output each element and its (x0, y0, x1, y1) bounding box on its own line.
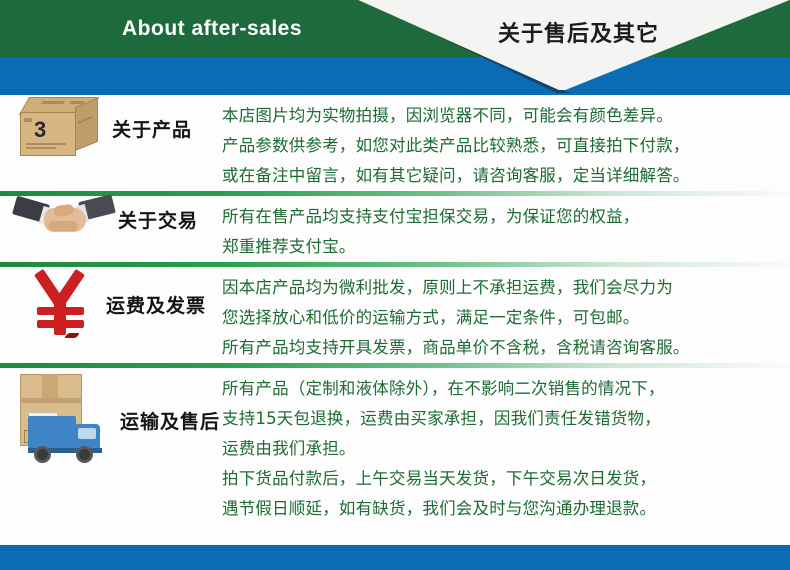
box-icon-number: 3 (34, 117, 46, 143)
delivery-truck-icon (12, 368, 116, 472)
section-4-title: 运输及售后 (120, 407, 220, 434)
section-3-text: 因本店产品均为微利批发，原则上不承担运费，我们会尽力为 您选择放心和低价的运输方… (222, 267, 790, 363)
banner-blue-band (0, 57, 790, 95)
section-2-line-1: 所有在售产品均支持支付宝担保交易，为保证您的权益， (222, 202, 784, 232)
section-4-left: 运输及售后 (0, 368, 222, 472)
page-banner: About after-sales 关于售后及其它 (0, 0, 790, 95)
section-shipping-invoice: 运费及发票 因本店产品均为微利批发，原则上不承担运费，我们会尽力为 您选择放心和… (0, 267, 790, 363)
section-3-left: 运费及发票 (0, 267, 222, 341)
section-1-line-3: 或在备注中留言，如有其它疑问，请咨询客服，定当详细解答。 (222, 161, 784, 191)
section-4-line-2: 支持15天包退换，运费由买家承担，因我们责任发错货物， (222, 404, 784, 434)
section-2-text: 所有在售产品均支持支付宝担保交易，为保证您的权益， 郑重推荐支付宝。 (222, 196, 790, 262)
section-3-line-1: 因本店产品均为微利批发，原则上不承担运费，我们会尽力为 (222, 273, 784, 303)
section-4-line-1: 所有产品（定制和液体除外），在不影响二次销售的情况下， (222, 374, 784, 404)
cardboard-box-icon: 3 (18, 95, 106, 161)
content-area: 3 关于产品 本店图片均为实物拍摄，因浏览器不同，可能会有颜色差异。 产品参数供… (0, 95, 790, 524)
section-1-title: 关于产品 (112, 115, 192, 142)
footer-blue-bar (0, 545, 790, 570)
section-about-transaction: 关于交易 所有在售产品均支持支付宝担保交易，为保证您的权益， 郑重推荐支付宝。 (0, 196, 790, 262)
yuan-currency-icon (20, 267, 102, 341)
section-3-title: 运费及发票 (106, 291, 206, 318)
section-4-line-4: 拍下货品付款后，上午交易当天发货，下午交易次日发货， (222, 464, 784, 494)
section-3-line-2: 您选择放心和低价的运输方式，满足一定条件，可包邮。 (222, 303, 784, 333)
banner-chinese-title: 关于售后及其它 (498, 16, 659, 48)
section-2-left: 关于交易 (0, 196, 222, 242)
section-delivery-aftersales: 运输及售后 所有产品（定制和液体除外），在不影响二次销售的情况下， 支持15天包… (0, 368, 790, 524)
after-sales-page: About after-sales 关于售后及其它 3 关于产品 (0, 0, 790, 570)
section-3-line-3: 所有产品均支持开具发票，商品单价不含税，含税请咨询客服。 (222, 333, 784, 363)
section-1-line-1: 本店图片均为实物拍摄，因浏览器不同，可能会有颜色差异。 (222, 101, 784, 131)
section-4-line-5: 遇节假日顺延，如有缺货，我们会及时与您沟通办理退款。 (222, 494, 784, 524)
section-2-line-2: 郑重推荐支付宝。 (222, 232, 784, 262)
section-4-line-3: 运费由我们承担。 (222, 434, 784, 464)
banner-english-title: About after-sales (122, 17, 302, 41)
handshake-icon (14, 196, 114, 242)
section-about-product: 3 关于产品 本店图片均为实物拍摄，因浏览器不同，可能会有颜色差异。 产品参数供… (0, 95, 790, 191)
section-1-line-2: 产品参数供参考，如您对此类产品比较熟悉，可直接拍下付款， (222, 131, 784, 161)
section-4-text: 所有产品（定制和液体除外），在不影响二次销售的情况下， 支持15天包退换，运费由… (222, 368, 790, 524)
section-2-title: 关于交易 (118, 206, 198, 233)
section-1-left: 3 关于产品 (0, 95, 222, 161)
section-1-text: 本店图片均为实物拍摄，因浏览器不同，可能会有颜色差异。 产品参数供参考，如您对此… (222, 95, 790, 191)
